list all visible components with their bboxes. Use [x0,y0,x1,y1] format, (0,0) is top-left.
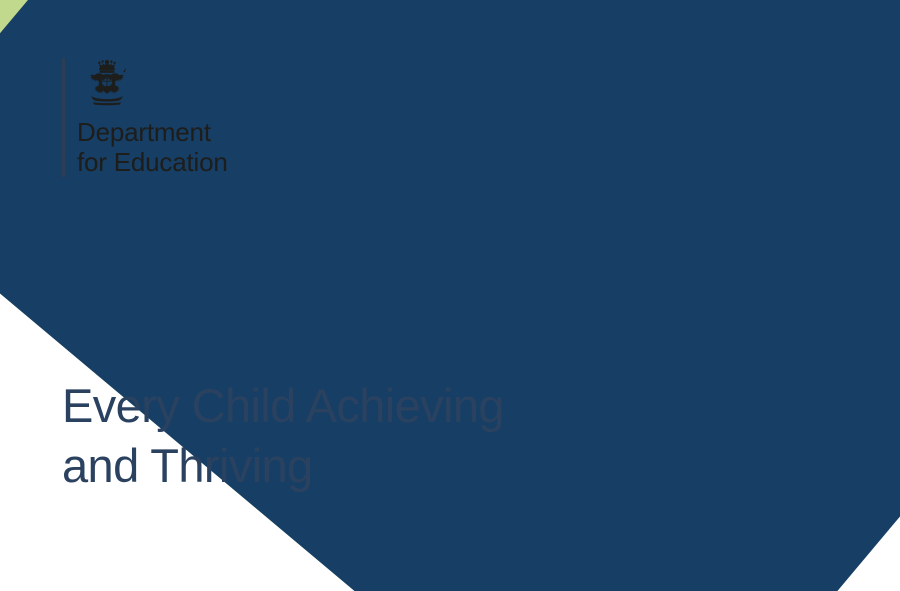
royal-coat-of-arms-icon [79,58,135,110]
page-title: Every Child Achieving and Thriving [62,376,622,496]
logo-vertical-rule [62,58,65,177]
slide-canvas: Department for Education Every Child Ach… [0,0,900,591]
logo-body: Department for Education [77,58,228,177]
dfe-logo: Department for Education [62,58,228,177]
department-name: Department for Education [77,117,228,177]
